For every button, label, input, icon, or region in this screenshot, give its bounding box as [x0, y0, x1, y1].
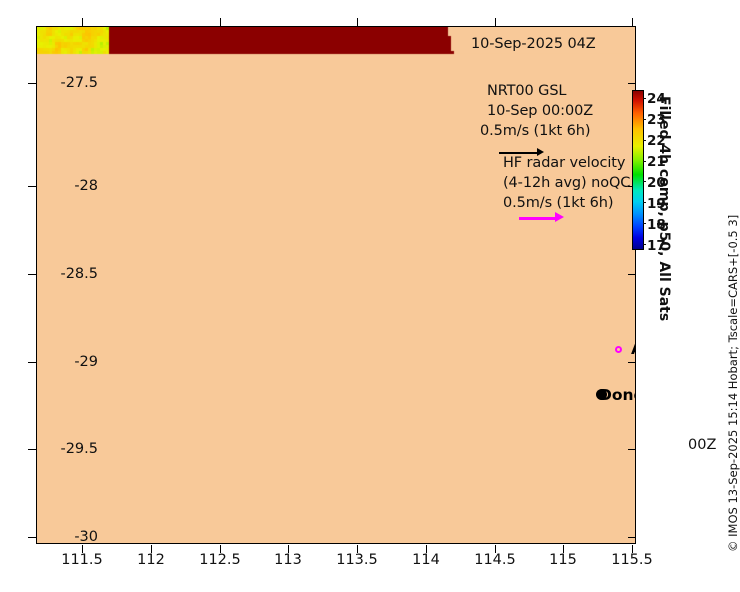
radar-scale-label: 0.5m/s (1kt 6h): [503, 195, 613, 211]
stray-00z-label: 00Z: [688, 437, 716, 453]
model-time-label: 10-Sep 00:00Z: [487, 103, 593, 119]
xtick-mark-1: [151, 545, 152, 553]
credit-text: © IMOS 13-Sep-2025 15:14 Hobart; Tscale=…: [726, 215, 740, 552]
xtick-label-8: 115.5: [597, 552, 667, 568]
xtick-label-7: 115: [528, 552, 598, 568]
xtick-label-1: 112: [116, 552, 186, 568]
colorbar: [632, 90, 644, 250]
ytick-mark-2: [28, 274, 36, 275]
ytick-mark-5: [28, 537, 36, 538]
xtick-mark-3: [288, 545, 289, 553]
right-tick-mark-3: [628, 362, 636, 363]
argo-legend-marker: [615, 346, 622, 353]
right-tick-mark-5: [628, 537, 636, 538]
xtick-label-6: 114.5: [460, 552, 530, 568]
radar-reference-arrowhead: [555, 212, 564, 222]
right-tick-mark-0: [628, 83, 636, 84]
ytick-mark-4: [28, 449, 36, 450]
top-tick-mark-3: [495, 18, 496, 26]
colorbar-tick-mark-2: [643, 140, 646, 141]
top-tick-mark-1: [220, 18, 221, 26]
top-tick-mark-2: [357, 18, 358, 26]
colorbar-tick-mark-4: [643, 181, 646, 182]
colorbar-tick-mark-1: [643, 119, 646, 120]
dongara-label: Dongara: [599, 386, 636, 404]
right-tick-mark-4: [628, 449, 636, 450]
model-reference-arrow: [499, 152, 539, 154]
top-tick-mark-4: [632, 18, 633, 26]
xtick-label-4: 113.5: [322, 552, 392, 568]
ytick-mark-0: [28, 83, 36, 84]
xtick-mark-2: [220, 545, 221, 553]
radar-reference-arrow: [519, 217, 557, 220]
figure-root: 10-Sep-2025 04Z NRT00 GSL 10-Sep 00:00Z …: [0, 0, 740, 592]
xtick-label-2: 112.5: [185, 552, 255, 568]
ytick-label-3: -29: [28, 354, 98, 370]
xtick-label-0: 111.5: [47, 552, 117, 568]
argo-legend-label: Argo: [631, 340, 636, 358]
colorbar-tick-mark-7: [643, 244, 646, 245]
model-scale-label: 0.5m/s (1kt 6h): [480, 123, 590, 139]
ytick-label-5: -30: [28, 529, 98, 545]
map-plot-area[interactable]: 10-Sep-2025 04Z NRT00 GSL 10-Sep 00:00Z …: [36, 26, 636, 544]
xtick-mark-8: [632, 545, 633, 553]
colorbar-tick-mark-0: [643, 98, 646, 99]
xtick-mark-6: [495, 545, 496, 553]
xtick-mark-5: [426, 545, 427, 553]
radar-sub-label: (4-12h avg) noQC: [503, 175, 630, 191]
right-tick-mark-2: [628, 274, 636, 275]
radar-title-label: HF radar velocity: [503, 155, 625, 171]
ytick-mark-3: [28, 362, 36, 363]
colorbar-axis-label: Filled 4h comp, p50, All Sats: [656, 96, 672, 321]
ytick-label-1: -28: [28, 178, 98, 194]
colorbar-tick-mark-5: [643, 202, 646, 203]
xtick-mark-7: [563, 545, 564, 553]
ytick-label-0: -27.5: [28, 75, 98, 91]
xtick-label-5: 114: [391, 552, 461, 568]
xtick-mark-4: [357, 545, 358, 553]
colorbar-tick-mark-6: [643, 223, 646, 224]
ytick-label-4: -29.5: [28, 441, 98, 457]
colorbar-tick-mark-3: [643, 161, 646, 162]
top-tick-mark-0: [82, 18, 83, 26]
xtick-label-3: 113: [253, 552, 323, 568]
xtick-mark-0: [82, 545, 83, 553]
ytick-label-2: -28.5: [28, 266, 98, 282]
ytick-mark-1: [28, 186, 36, 187]
model-source-label: NRT00 GSL: [487, 83, 566, 99]
timestamp-label: 10-Sep-2025 04Z: [471, 36, 596, 52]
